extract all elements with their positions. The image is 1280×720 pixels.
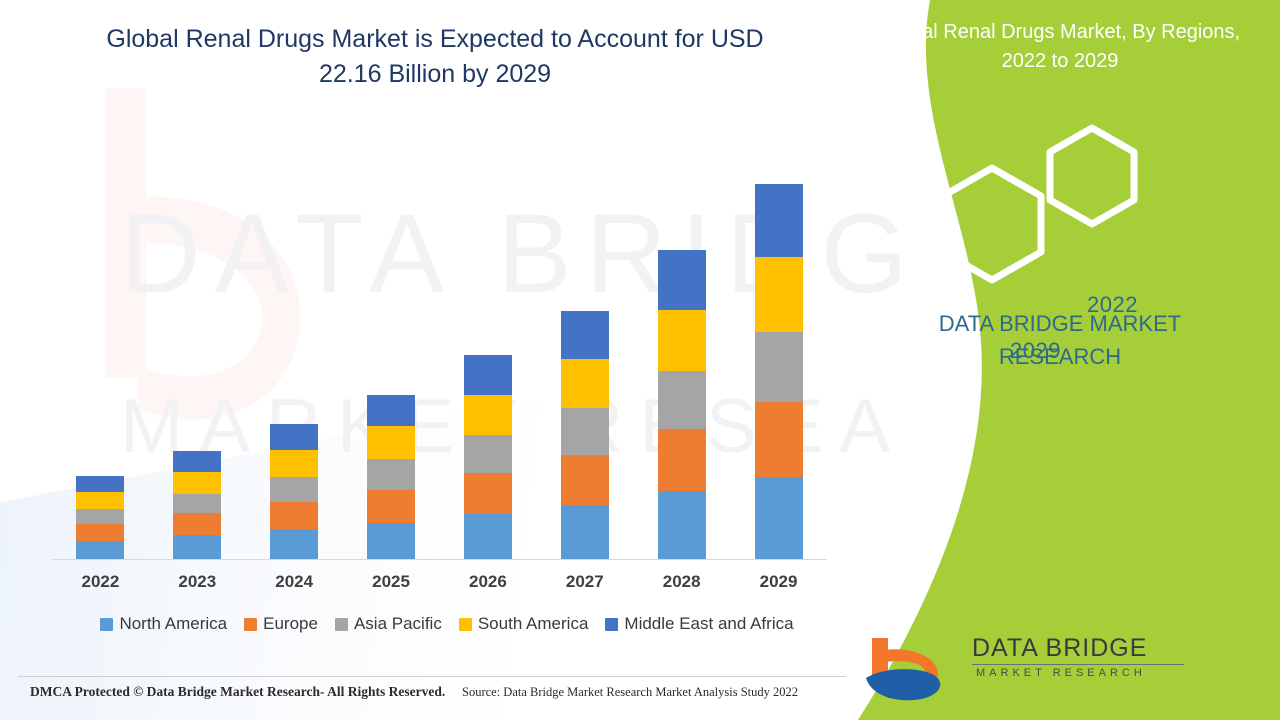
legend-label: North America [119, 614, 227, 634]
x-axis-label-2029: 2029 [730, 572, 827, 592]
bar-segment [561, 359, 609, 408]
bar-segment [76, 524, 124, 541]
bar-segment [367, 395, 415, 427]
brand-panel: Global Renal Drugs Market, By Regions, 2… [840, 0, 1280, 720]
legend-swatch-icon [244, 618, 257, 631]
bar-segment [755, 402, 803, 478]
bar-segment [464, 355, 512, 395]
bar-segment [658, 491, 706, 559]
x-axis-label-2022: 2022 [52, 572, 149, 592]
bar-segment [173, 513, 221, 535]
bar-segment [755, 184, 803, 257]
x-axis-label-2025: 2025 [343, 572, 440, 592]
stacked-bar-2022[interactable] [76, 476, 124, 559]
bar-segment [76, 509, 124, 524]
bar-segment [270, 529, 318, 559]
legend-item[interactable]: Europe [244, 614, 318, 634]
bar-segment [561, 455, 609, 505]
x-axis-labels: 20222023202420252026202720282029 [52, 572, 827, 592]
databridge-mark-icon [858, 632, 968, 704]
stacked-bar-2027[interactable] [561, 311, 609, 559]
legend-label: South America [478, 614, 589, 634]
bar-segment [367, 426, 415, 458]
bar-segment [76, 541, 124, 559]
stacked-bar-2024[interactable] [270, 424, 318, 559]
bar-segment [464, 473, 512, 514]
stacked-bar-2029[interactable] [755, 184, 803, 559]
bar-segment [367, 459, 415, 490]
bar-slot [633, 110, 730, 559]
chart-plot-area [52, 110, 827, 560]
bar-segment [561, 311, 609, 359]
bar-segment [173, 535, 221, 559]
bar-segment [464, 514, 512, 559]
bar-group [52, 110, 827, 559]
brand-name-line-2: RESEARCH [860, 341, 1260, 374]
bar-segment [173, 494, 221, 513]
bar-segment [173, 472, 221, 494]
x-axis-label-2026: 2026 [440, 572, 537, 592]
x-axis-label-2024: 2024 [246, 572, 343, 592]
legend-item[interactable]: South America [459, 614, 589, 634]
legend-item[interactable]: North America [100, 614, 227, 634]
bar-segment [270, 450, 318, 477]
infographic-root: DATA BRIDGE MARKET RESEARCH Global Renal… [0, 0, 1280, 720]
bar-segment [76, 476, 124, 493]
legend-swatch-icon [459, 618, 472, 631]
bar-slot [246, 110, 343, 559]
bar-segment [658, 250, 706, 310]
x-axis-line [52, 559, 827, 560]
legend-item[interactable]: Asia Pacific [335, 614, 442, 634]
bar-segment [755, 477, 803, 559]
bar-segment [658, 429, 706, 491]
bar-segment [367, 490, 415, 523]
legend-swatch-icon [335, 618, 348, 631]
chart-panel: DATA BRIDGE MARKET RESEARCH Global Renal… [0, 0, 900, 720]
legend-swatch-icon [100, 618, 113, 631]
legend-item[interactable]: Middle East and Africa [605, 614, 793, 634]
chart-legend: North AmericaEuropeAsia PacificSouth Ame… [52, 614, 842, 634]
stacked-bar-2023[interactable] [173, 451, 221, 559]
bar-segment [755, 332, 803, 402]
hexagon-outline-icons [865, 120, 1265, 300]
footer-divider [18, 676, 846, 677]
bar-segment [270, 477, 318, 502]
company-logo: DATA BRIDGE MARKET RESEARCH [850, 630, 1270, 702]
logo-name-text: DATA BRIDGE [972, 634, 1147, 663]
x-axis-label-2023: 2023 [149, 572, 246, 592]
bar-segment [464, 435, 512, 473]
logo-divider [972, 664, 1184, 665]
legend-label: Middle East and Africa [624, 614, 793, 634]
logo-subtitle-text: MARKET RESEARCH [976, 667, 1146, 679]
bar-segment [367, 523, 415, 559]
bar-segment [464, 395, 512, 435]
brand-name-line-1: DATA BRIDGE MARKET [860, 308, 1260, 341]
bar-slot [440, 110, 537, 559]
brand-name-text: DATA BRIDGE MARKET RESEARCH [860, 308, 1260, 373]
stacked-bar-2026[interactable] [464, 355, 512, 559]
bar-segment [561, 505, 609, 559]
bar-segment [658, 371, 706, 429]
dmca-notice: DMCA Protected © Data Bridge Market Rese… [30, 684, 445, 700]
bar-slot [52, 110, 149, 559]
bar-slot [730, 110, 827, 559]
x-axis-label-2028: 2028 [633, 572, 730, 592]
page-title: Global Renal Drugs Market is Expected to… [90, 22, 780, 91]
stacked-bar-2025[interactable] [367, 395, 415, 559]
bar-segment [658, 310, 706, 371]
bar-slot [343, 110, 440, 559]
stacked-bar-2028[interactable] [658, 250, 706, 559]
brand-panel-title: Global Renal Drugs Market, By Regions, 2… [860, 18, 1260, 76]
bar-segment [561, 408, 609, 455]
bar-segment [270, 424, 318, 450]
bar-segment [76, 492, 124, 509]
bar-segment [270, 502, 318, 529]
source-note: Source: Data Bridge Market Research Mark… [462, 685, 798, 700]
legend-label: Asia Pacific [354, 614, 442, 634]
legend-label: Europe [263, 614, 318, 634]
hexagon-badges: 2022 2029 [865, 120, 1265, 300]
bar-slot [536, 110, 633, 559]
bar-slot [149, 110, 246, 559]
legend-swatch-icon [605, 618, 618, 631]
x-axis-label-2027: 2027 [536, 572, 633, 592]
bar-segment [755, 257, 803, 332]
bar-segment [173, 451, 221, 472]
